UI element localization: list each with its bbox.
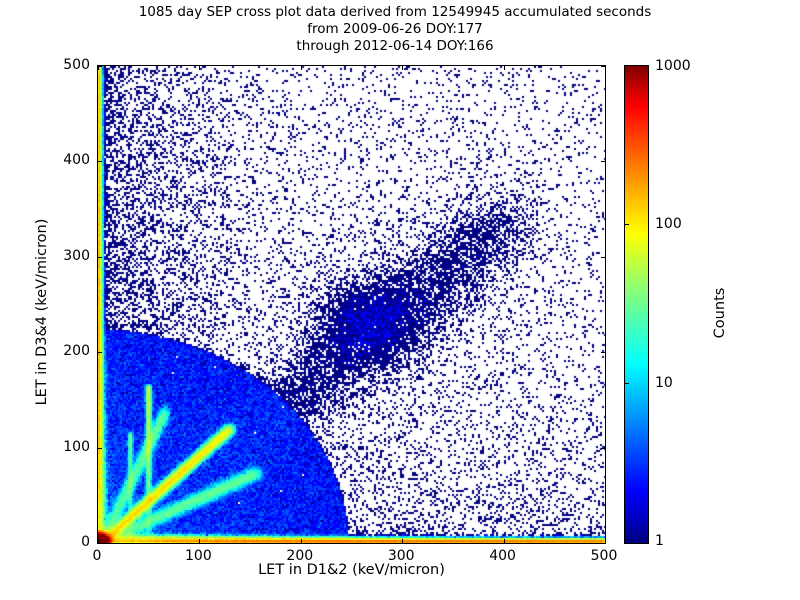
y-tick-mark [601, 257, 605, 258]
colorbar-tick-label: 10 [655, 375, 673, 391]
x-tick-mark [504, 539, 505, 543]
x-tick-mark [301, 539, 302, 543]
colorbar-tick-mark [625, 383, 629, 384]
y-tick-label: 400 [40, 152, 90, 168]
x-tick-mark [199, 539, 200, 543]
y-axis-label: LET in D3&4 (keV/micron) [34, 192, 50, 432]
y-tick-mark [98, 543, 102, 544]
y-tick-mark [98, 448, 102, 449]
plot-area [97, 65, 606, 544]
x-tick-mark [605, 66, 606, 70]
y-tick-mark [98, 66, 102, 67]
y-tick-mark [601, 448, 605, 449]
y-tick-mark [601, 352, 605, 353]
x-tick-mark [504, 66, 505, 70]
figure-canvas: 1085 day SEP cross plot data derived fro… [0, 0, 800, 600]
x-tick-mark [605, 539, 606, 543]
x-tick-mark [402, 539, 403, 543]
y-tick-label: 0 [40, 534, 90, 550]
colorbar-tick-mark [625, 224, 629, 225]
y-tick-mark [601, 66, 605, 67]
colorbar-tick-label: 1000 [655, 58, 691, 74]
y-tick-mark [98, 352, 102, 353]
plot-title: 1085 day SEP cross plot data derived fro… [0, 4, 790, 55]
title-line-3: through 2012-06-14 DOY:166 [0, 38, 790, 55]
title-line-2: from 2009-06-26 DOY:177 [0, 21, 790, 38]
x-tick-mark [199, 66, 200, 70]
y-tick-mark [98, 161, 102, 162]
colorbar-tick-label: 100 [655, 216, 682, 232]
x-tick-mark [301, 66, 302, 70]
title-line-1: 1085 day SEP cross plot data derived fro… [0, 4, 790, 21]
y-tick-label: 100 [40, 439, 90, 455]
colorbar-tick-label: 1 [655, 533, 664, 549]
colorbar [624, 65, 649, 544]
colorbar-label: Counts [712, 213, 728, 413]
y-tick-mark [98, 257, 102, 258]
y-tick-mark [601, 161, 605, 162]
y-tick-mark [601, 543, 605, 544]
y-tick-label: 500 [40, 57, 90, 73]
density-scatter-canvas [98, 66, 605, 543]
x-axis-label: LET in D1&2 (keV/micron) [97, 562, 606, 578]
x-tick-mark [402, 66, 403, 70]
